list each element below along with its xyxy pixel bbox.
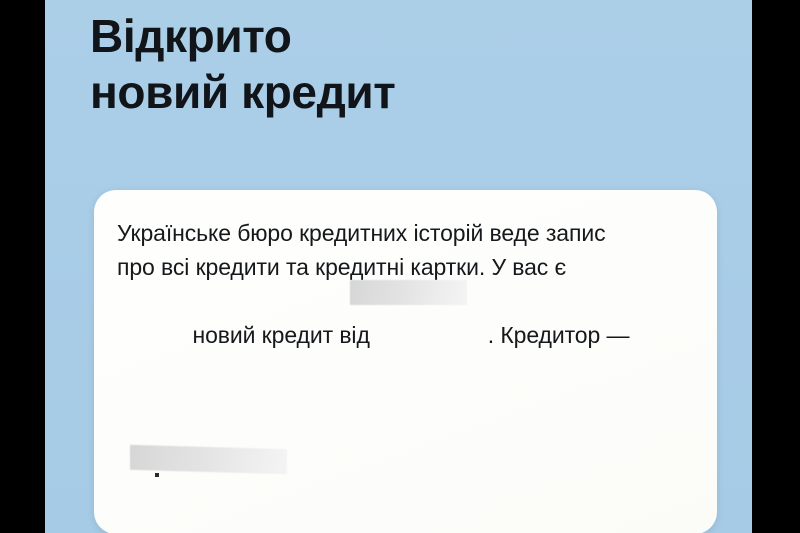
phone-screen: Відкрито новий кредит Українське бюро кр… [45,0,752,533]
paragraph-1-line-3-prefix: новий кредит від [192,322,369,348]
redacted-creditor-details-block [130,445,287,474]
redacted-trailing-period [155,473,159,477]
notification-card-body: Українське бюро кредитних історій веде з… [117,216,701,533]
page-title: Відкрито новий кредит [90,8,710,120]
screenshot-root: Відкрито новий кредит Українське бюро кр… [0,0,800,533]
paragraph-1-line-1: Українське бюро кредитних історій веде з… [117,216,701,250]
paragraph-1-line-2: про всі кредити та кредитні картки. У ва… [117,250,701,284]
letterbox-bar-left [0,0,45,533]
letterbox-bar-right [752,0,800,533]
paragraph-1-line-3: новий кредит від. Кредитор — [117,284,701,420]
paragraph-1-line-4: . [117,420,701,533]
notification-paragraph-1: Українське бюро кредитних історій веде з… [117,216,701,533]
notification-card[interactable]: Українське бюро кредитних історій веде з… [94,190,717,533]
paragraph-1-line-3-suffix: . Кредитор — [488,322,630,348]
redacted-creditor-name-block [350,280,467,305]
